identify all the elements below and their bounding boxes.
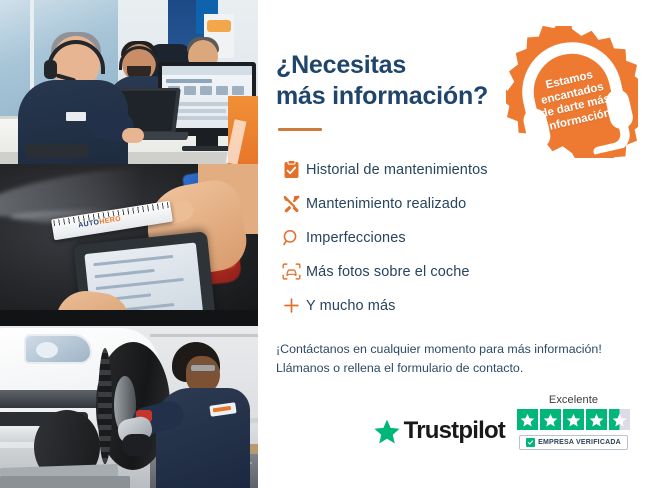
car-scan-frame-icon — [276, 263, 306, 280]
contact-line-1: ¡Contáctanos en cualquier momento para m… — [276, 342, 602, 356]
verified-company-badge: EMPRESA VERIFICADA — [519, 435, 628, 450]
trustpilot-brand-name: Trustpilot — [404, 417, 505, 445]
info-banner: AUTOHERO — [0, 0, 650, 488]
star-4 — [586, 409, 607, 430]
promo-starburst-badge: Estamos encantados de darte más informac… — [506, 26, 638, 158]
trustpilot-star-icon — [374, 419, 400, 444]
contact-copy: ¡Contáctanos en cualquier momento para m… — [276, 340, 626, 378]
photo-collage: AUTOHERO — [0, 0, 258, 488]
feature-item-mantenimiento: Mantenimiento realizado — [276, 187, 626, 220]
heading-line-2: más información? — [276, 82, 488, 110]
feature-item-imperfecciones: Imperfecciones — [276, 221, 626, 254]
content-panel: Estamos encantados de darte más informac… — [258, 0, 650, 488]
mechanic-wheel-photo — [0, 326, 258, 488]
verified-check-icon — [526, 438, 535, 447]
feature-label: Y mucho más — [306, 298, 395, 314]
heading-line-1: ¿Necesitas — [276, 51, 406, 79]
feature-item-fotos: Más fotos sobre el coche — [276, 255, 626, 288]
star-1 — [517, 409, 538, 430]
feature-label: Más fotos sobre el coche — [306, 264, 470, 280]
trustpilot-rating-label: Excelente — [549, 394, 598, 406]
trustpilot-star-rating — [517, 409, 630, 430]
star-5-half — [609, 409, 630, 430]
feature-label: Imperfecciones — [306, 230, 406, 246]
plus-icon — [276, 297, 306, 314]
feature-label: Mantenimiento realizado — [306, 196, 466, 212]
star-2 — [540, 409, 561, 430]
tools-wrench-screwdriver-icon — [276, 194, 306, 213]
feature-list: Historial de mantenimientos Mantenimient… — [276, 153, 626, 322]
feature-label: Historial de mantenimientos — [306, 162, 488, 178]
star-3 — [563, 409, 584, 430]
clipboard-check-icon — [276, 160, 306, 179]
verified-label: EMPRESA VERIFICADA — [538, 439, 621, 446]
magnifier-icon — [276, 229, 306, 247]
car-inspection-ruler-photo: AUTOHERO — [0, 164, 258, 326]
title-divider — [278, 128, 322, 131]
call-center-agents-photo — [0, 0, 258, 164]
trustpilot-logo: Trustpilot — [374, 417, 505, 445]
feature-item-mas: Y mucho más — [276, 289, 626, 322]
contact-line-2: Llámanos o rellena el formulario de cont… — [276, 361, 523, 375]
trustpilot-widget[interactable]: Trustpilot Excelente EMPRESA VERIFICADA — [374, 394, 630, 450]
